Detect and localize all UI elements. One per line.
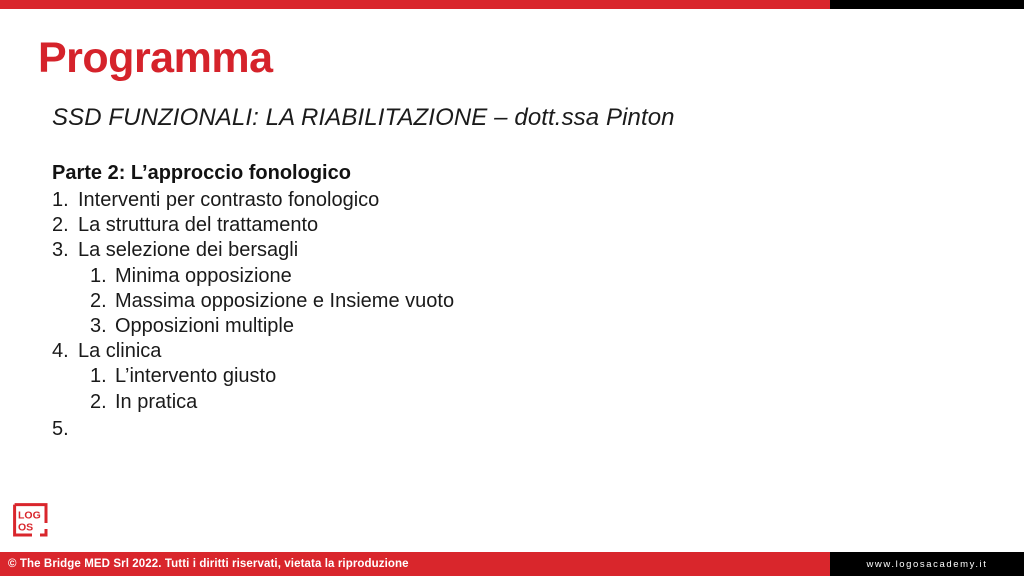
page-title: Programma <box>38 36 272 81</box>
sub-list-item-label: L’intervento giusto <box>115 364 276 389</box>
footer-website-band: www.logosacademy.it <box>830 552 1024 576</box>
logos-logo: LOG OS <box>13 503 51 537</box>
sub-list-item-label: Minima opposizione <box>115 264 292 289</box>
list-item: 2. La struttura del trattamento <box>52 213 812 238</box>
sub-list-item-marker: 2. <box>90 390 115 415</box>
slide-root: { "theme": { "brand_red": "#d9262c", "ti… <box>0 0 1024 576</box>
sub-list-item: 2. Massima opposizione e Insieme vuoto <box>52 289 812 314</box>
sub-list-item-label: In pratica <box>115 390 197 415</box>
list-item: 1. Interventi per contrasto fonologico <box>52 188 812 213</box>
sub-list-item: 1. L’intervento giusto <box>52 364 812 389</box>
list-item: 4. La clinica <box>52 339 812 364</box>
list-item-marker: 3. <box>52 238 78 263</box>
footer-website-text[interactable]: www.logosacademy.it <box>866 559 987 570</box>
list-item-marker: 5. <box>52 417 78 442</box>
list-item-label: La clinica <box>78 339 161 364</box>
top-accent-black-segment <box>830 0 1024 9</box>
slide-subtitle: SSD FUNZIONALI: LA RIABILITAZIONE – dott… <box>52 104 675 132</box>
sub-list-item-marker: 2. <box>90 289 115 314</box>
top-accent-red-segment <box>0 0 830 9</box>
sub-list-item-label: Massima opposizione e Insieme vuoto <box>115 289 454 314</box>
logos-logo-icon: LOG OS <box>13 503 51 537</box>
agenda-list: Parte 2: L’approccio fonologico 1. Inter… <box>52 161 812 442</box>
list-item-marker: 4. <box>52 339 78 364</box>
list-item-label: La selezione dei bersagli <box>78 238 298 263</box>
footer-bar: © The Bridge MED Srl 2022. Tutti i dirit… <box>0 552 1024 576</box>
sub-list-item-marker: 3. <box>90 314 115 339</box>
list-item-label: Interventi per contrasto fonologico <box>78 188 379 213</box>
logo-text-line2: OS <box>18 522 33 534</box>
footer-copyright-band: © The Bridge MED Srl 2022. Tutti i dirit… <box>0 552 830 576</box>
sub-list-item: 2. In pratica <box>52 390 812 415</box>
sub-list-item-marker: 1. <box>90 364 115 389</box>
logo-text-line1: LOG <box>18 510 41 522</box>
top-accent-bar <box>0 0 1024 9</box>
section-heading: Parte 2: L’approccio fonologico <box>52 161 812 186</box>
sub-list-item: 1. Minima opposizione <box>52 264 812 289</box>
footer-copyright-text: © The Bridge MED Srl 2022. Tutti i dirit… <box>0 558 409 570</box>
sub-list-item-label: Opposizioni multiple <box>115 314 294 339</box>
list-item: 3. La selezione dei bersagli <box>52 238 812 263</box>
sub-list-item: 3. Opposizioni multiple <box>52 314 812 339</box>
list-item-marker: 2. <box>52 213 78 238</box>
list-item: 5. <box>52 415 812 442</box>
list-item-label: La struttura del trattamento <box>78 213 318 238</box>
list-item-marker: 1. <box>52 188 78 213</box>
sub-list-item-marker: 1. <box>90 264 115 289</box>
